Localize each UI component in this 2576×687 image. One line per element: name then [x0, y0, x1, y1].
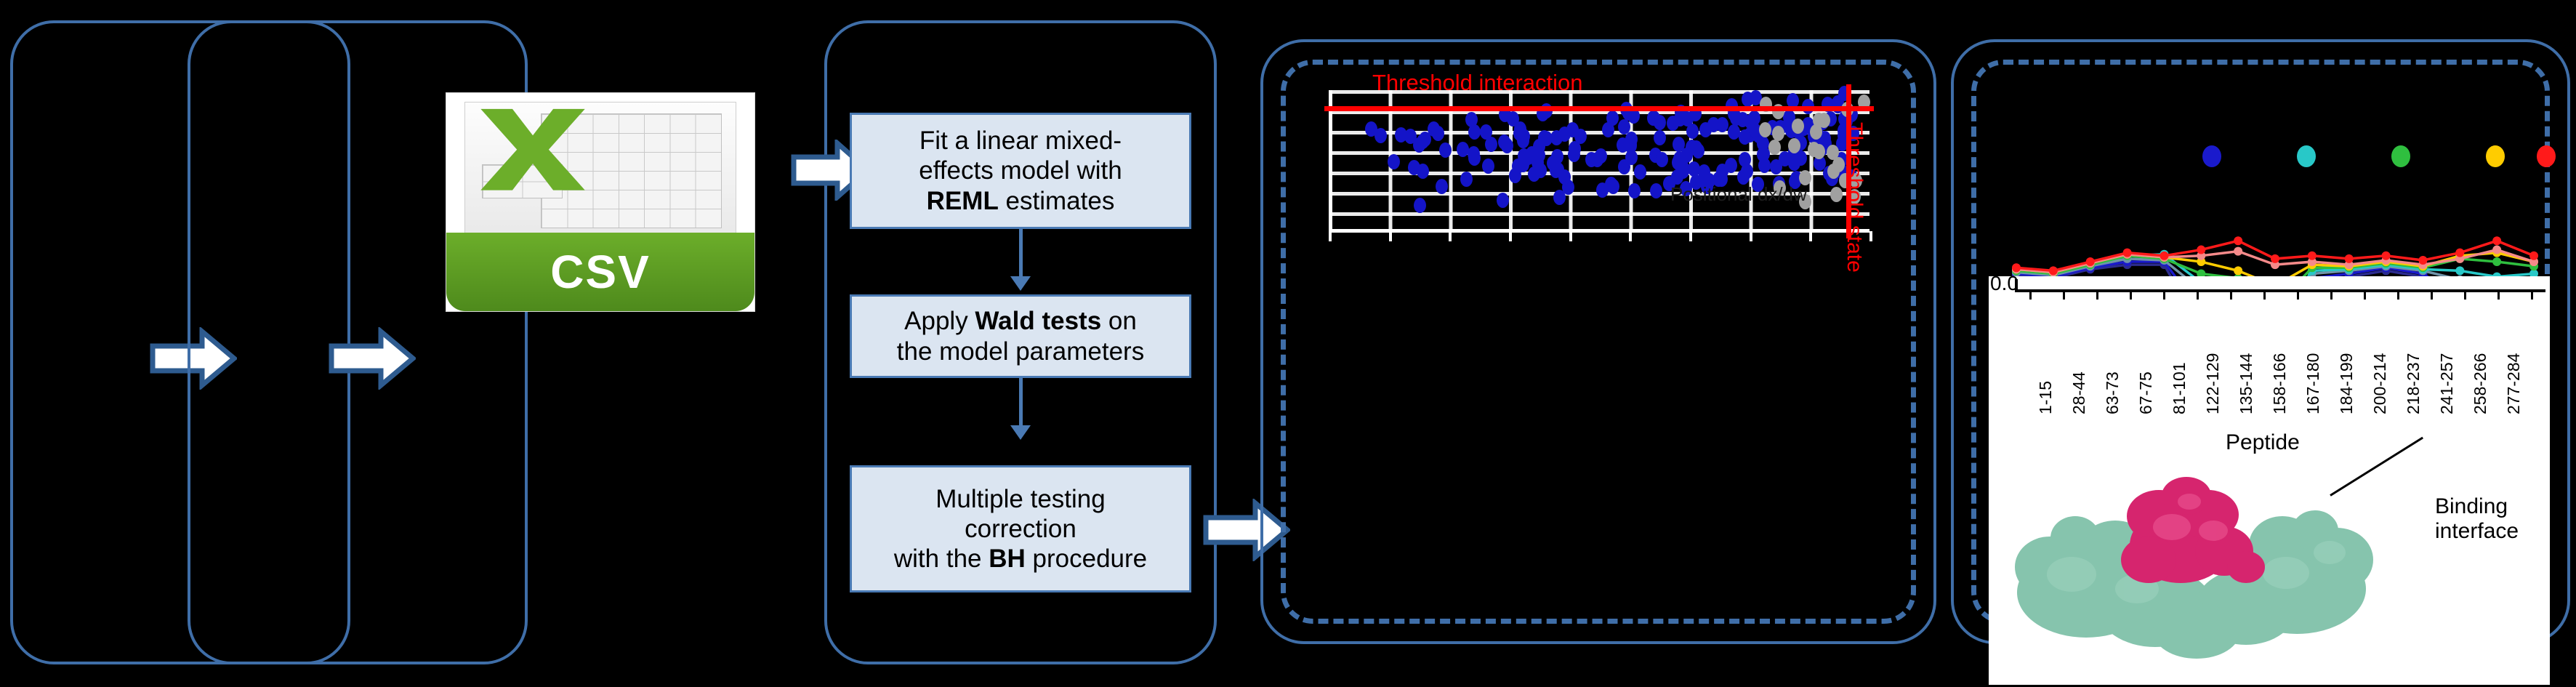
peptide-x-label: 218-237	[2404, 353, 2423, 414]
peptide-x-label: 67-75	[2136, 371, 2156, 414]
peptide-x-label: 167-180	[2303, 353, 2323, 414]
scatter-x-tick	[1629, 231, 1632, 241]
step-box-reml[interactable]: Fit a linear mixed- effects model with R…	[850, 113, 1191, 229]
step-reml-text: Fit a linear mixed- effects model with R…	[919, 126, 1122, 216]
step-wald-text: Apply Wald tests on the model parameters	[897, 306, 1144, 366]
scatter-x-tick	[1869, 231, 1872, 241]
scatter-axes-frame	[1329, 90, 1869, 233]
legend-dot-series-blue	[2202, 145, 2221, 167]
excel-x-glyph	[474, 105, 587, 193]
connector-reml-wald	[1019, 229, 1023, 276]
chart-point-pink	[2492, 246, 2501, 254]
chart-point-red	[2086, 257, 2095, 266]
scatter-x-tick	[1750, 231, 1752, 241]
legend-dot-series-cyan	[2297, 145, 2316, 167]
scatter-x-tick	[1509, 231, 1512, 241]
scatter-x-tick	[1809, 231, 1812, 241]
scatter-plot-main: Positional dx/dwThreshold state	[1329, 90, 1869, 233]
peptide-x-tick	[2263, 289, 2266, 300]
legend-dot-series-yellow	[2486, 145, 2505, 167]
peptide-x-tick	[2330, 289, 2333, 300]
peptide-x-label: 81-101	[2170, 362, 2189, 414]
binding-interface-annotation: Binding interface	[2435, 494, 2519, 543]
pipeline-figure: CSV Fit a linear mixed- effects model wi…	[0, 0, 2576, 687]
chart-point-red	[2529, 252, 2538, 260]
chart-point-red	[2492, 236, 2501, 245]
protein-structure-image	[2006, 458, 2384, 676]
chart-point-red	[2382, 252, 2391, 260]
peptide-x-tick	[2397, 289, 2399, 300]
y-axis-tip	[2015, 279, 2018, 291]
peptide-x-label: 158-166	[2270, 353, 2290, 414]
scatter-x-tick	[1389, 231, 1392, 241]
threshold-interaction-line	[1324, 106, 1874, 111]
peptide-x-label: 277-284	[2504, 353, 2524, 414]
legend-dot-series-red	[2537, 145, 2556, 167]
chart-point-cyan	[2455, 266, 2464, 275]
connector-wald-bh	[1019, 378, 1023, 425]
peptide-x-tick	[2130, 289, 2132, 300]
peptide-x-label: 258-266	[2471, 353, 2490, 414]
scatter-x-tick	[1449, 231, 1452, 241]
chart-point-red	[2271, 254, 2279, 263]
peptide-x-tick	[2096, 289, 2098, 300]
chart-point-red	[2234, 236, 2242, 245]
legend-dot-series-green	[2391, 145, 2410, 167]
peptide-x-tick	[2531, 289, 2533, 300]
arrow-down-to-bh	[1010, 425, 1031, 440]
scatter-faint-label: Positional dx/dw	[1670, 183, 1807, 206]
step-box-wald[interactable]: Apply Wald tests on the model parameters	[850, 294, 1191, 378]
threshold-state-label: Threshold state	[1842, 122, 1867, 273]
peptide-x-tick	[2297, 289, 2299, 300]
peptide-x-tick	[2364, 289, 2366, 300]
chart-point-pink	[2234, 247, 2242, 256]
peptide-x-label: 28-44	[2069, 371, 2089, 414]
chart-point-red	[2049, 266, 2058, 275]
csv-spreadsheet-body	[464, 102, 736, 237]
chart-point-red	[2197, 246, 2205, 254]
peptide-x-label: 200-214	[2370, 353, 2390, 414]
arrow-down-to-wald	[1010, 276, 1031, 291]
step-bh-text: Multiple testing correction with the BH …	[894, 484, 1147, 574]
peptide-x-tick	[2029, 289, 2032, 300]
chart-point-red	[2418, 256, 2427, 265]
chart-point-red	[2160, 252, 2168, 260]
chart-point-red	[2345, 254, 2354, 263]
peptide-x-label: 135-144	[2237, 353, 2256, 414]
scatter-x-tick	[1329, 231, 1332, 241]
peptide-x-label: 1-15	[2036, 381, 2056, 414]
peptide-x-tick	[2197, 289, 2199, 300]
peptide-x-tick	[2063, 289, 2065, 300]
excel-csv-icon: CSV	[446, 93, 754, 311]
peptide-x-label: 122-129	[2203, 353, 2223, 414]
chart-point-red	[2455, 249, 2464, 257]
chart-point-green	[2492, 257, 2501, 266]
peptide-x-label: 184-199	[2337, 353, 2356, 414]
scatter-x-tick	[1569, 231, 1572, 241]
annotation-line-2: interface	[2435, 519, 2519, 543]
peptide-x-tick	[2163, 289, 2165, 300]
peptide-x-tick	[2230, 289, 2232, 300]
csv-label: CSV	[550, 245, 651, 299]
step-box-bh[interactable]: Multiple testing correction with the BH …	[850, 465, 1191, 592]
arrow-csv-to-stats	[329, 327, 416, 390]
peptide-x-label: 63-73	[2103, 371, 2122, 414]
csv-label-band: CSV	[446, 233, 754, 311]
peptide-x-tick	[2464, 289, 2466, 300]
structure-card: 0.0 1-1528-4463-7367-7581-101122-129135-…	[1989, 276, 2550, 685]
chart-point-red	[2012, 263, 2021, 272]
peptide-x-label: 241-257	[2437, 353, 2457, 414]
peptide-x-tick	[2497, 289, 2500, 300]
chart-point-red	[2308, 252, 2317, 260]
annotation-line-1: Binding	[2435, 494, 2508, 518]
chart-point-red	[2123, 249, 2132, 257]
scatter-x-tick	[1689, 231, 1692, 241]
chart-point-yellow	[2234, 266, 2242, 275]
peptide-x-tick	[2431, 289, 2433, 300]
x-axis-title: Peptide	[2226, 430, 2300, 455]
